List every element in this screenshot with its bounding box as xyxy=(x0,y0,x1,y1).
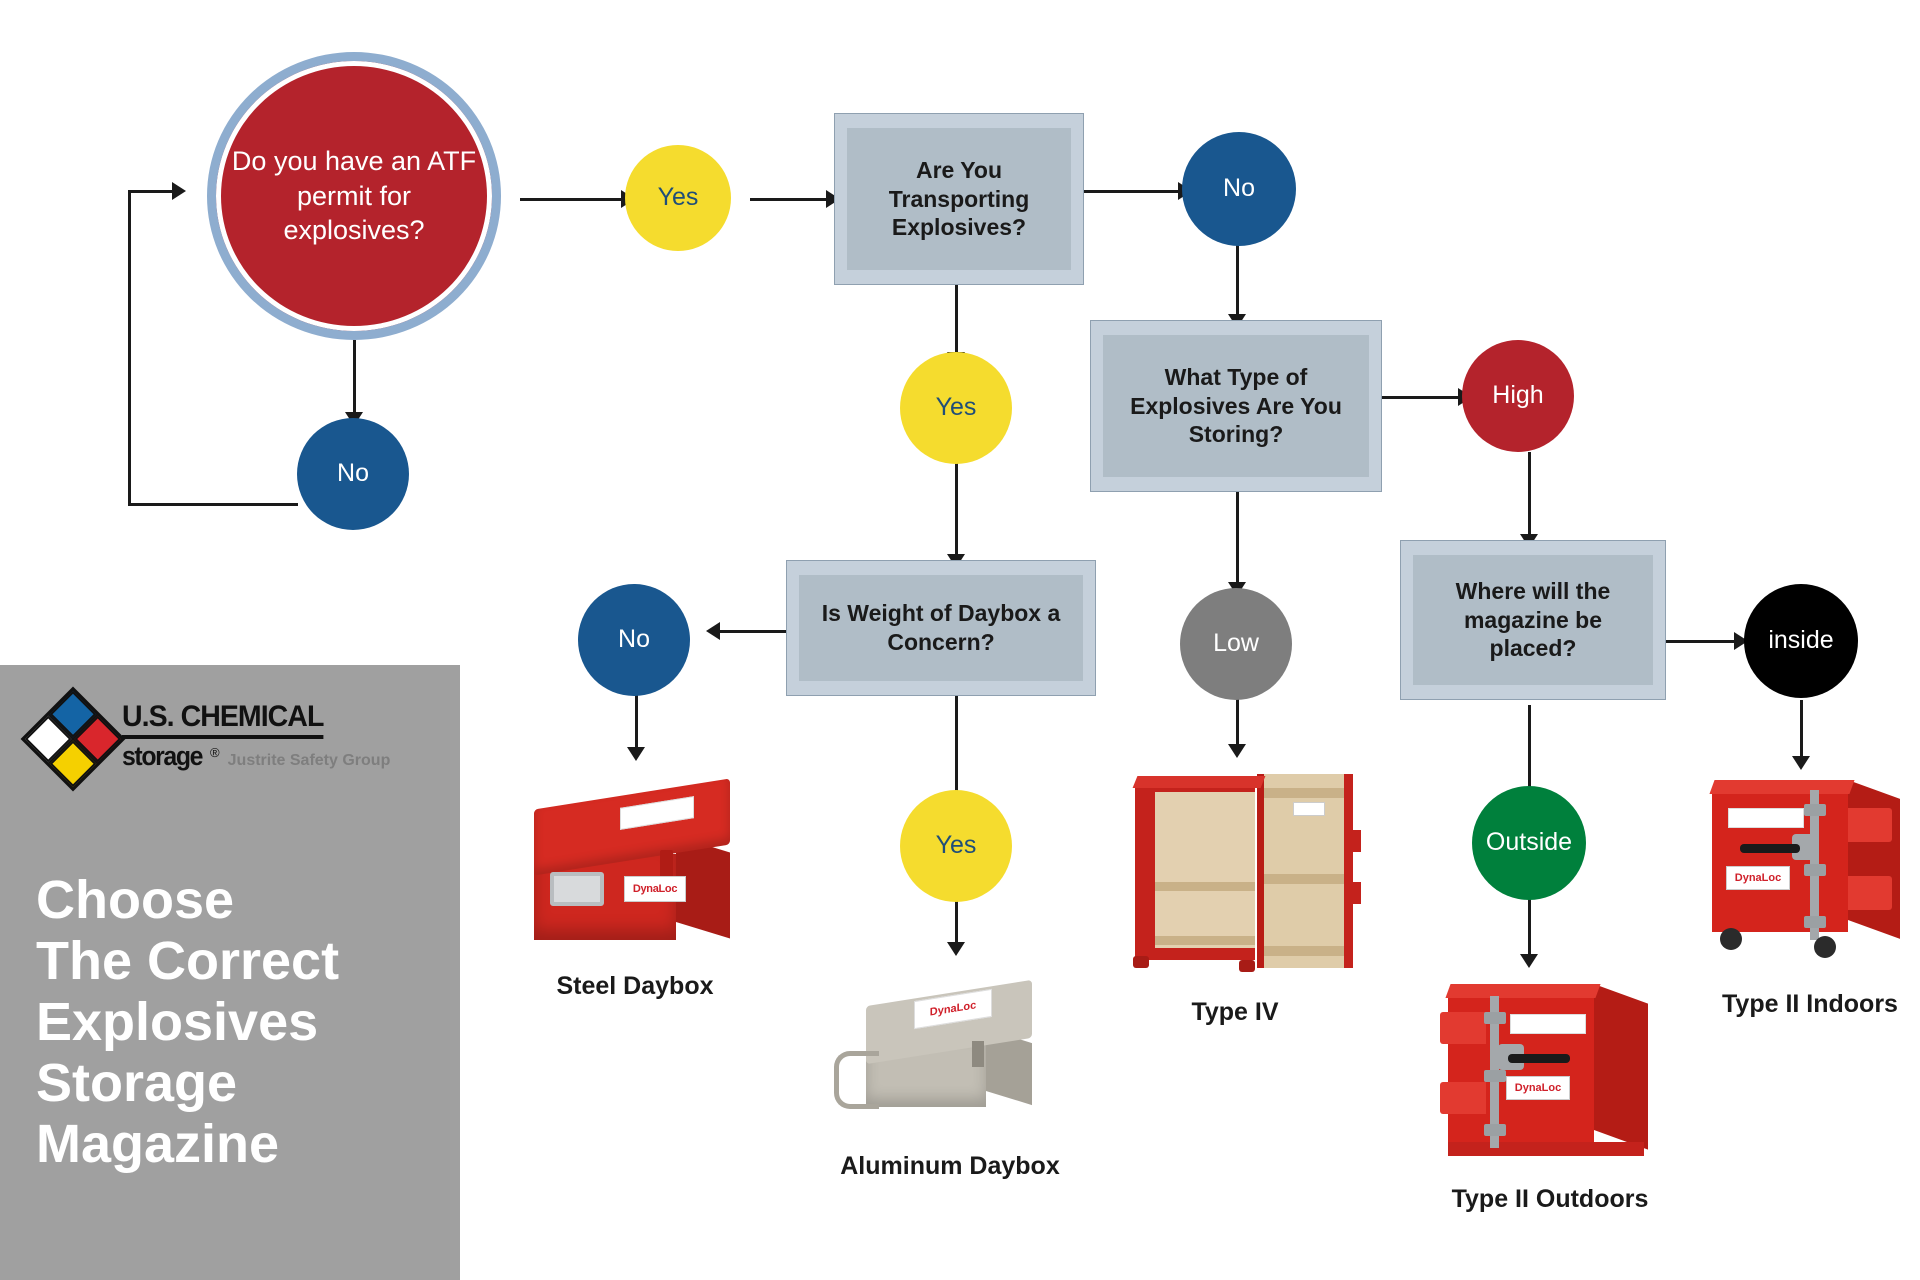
type-ii-indoors-brand-sticker xyxy=(1728,808,1804,828)
connector-type-to-low xyxy=(1236,492,1239,588)
answer-weight-no[interactable]: No xyxy=(578,584,690,696)
decision-are-you-transporting-label: Are You Transporting Explosives? xyxy=(847,128,1071,270)
type-ii-outdoors-clamp-top xyxy=(1484,1012,1506,1024)
arrowhead-inside-to-indoors xyxy=(1792,756,1810,770)
aluminum-daybox-handle xyxy=(834,1051,879,1109)
product-image-aluminum-daybox: DynaLoc xyxy=(840,975,1055,1125)
connector-transporting-to-no xyxy=(1084,190,1182,193)
type-ii-indoors-clamp-mid xyxy=(1804,864,1826,876)
start-node-atf-permit[interactable]: Do you have an ATF permit for explosives… xyxy=(207,52,501,340)
product-image-steel-daybox: DynaLoc xyxy=(528,780,738,950)
type-ii-indoors-clamp-top xyxy=(1804,804,1826,816)
arrowhead-yes-to-aluminum xyxy=(947,942,965,956)
brand-title-line-3: Explosives xyxy=(36,992,456,1053)
decision-daybox-weight[interactable]: Is Weight of Daybox a Concern? xyxy=(786,560,1096,696)
connector-start-to-no xyxy=(353,340,356,418)
brand-logo-text: U.S. CHEMICAL storage ® Justrite Safety … xyxy=(122,702,390,770)
type-iv-door-band-bottom xyxy=(1264,946,1344,956)
product-image-type-ii-outdoors: DynaLoc xyxy=(1432,978,1662,1168)
caption-type-ii-indoors: Type II Indoors xyxy=(1660,990,1920,1019)
brand-logo-registered: ® xyxy=(210,745,220,760)
answer-transporting-yes[interactable]: Yes xyxy=(900,352,1012,464)
steel-daybox-handle xyxy=(550,872,604,906)
type-iv-label-tag xyxy=(1293,802,1325,816)
brand-panel: U.S. CHEMICAL storage ® Justrite Safety … xyxy=(0,665,460,1280)
type-iv-hinge-lower xyxy=(1347,882,1361,904)
type-ii-indoors-caster-right xyxy=(1814,936,1836,958)
type-ii-outdoors-clamp-mid xyxy=(1484,1070,1506,1082)
caption-type-iv: Type IV xyxy=(1110,998,1360,1027)
brand-title-line-5: Magazine xyxy=(36,1114,456,1175)
connector-high-to-placement xyxy=(1528,452,1531,540)
connector-inside-to-indoors xyxy=(1800,700,1803,762)
arrowhead-outside-to-outdoors xyxy=(1520,954,1538,968)
brand-title: Choose The Correct Explosives Storage Ma… xyxy=(36,870,456,1175)
answer-placement-outside[interactable]: Outside xyxy=(1472,786,1586,900)
type-iv-door-band-mid xyxy=(1264,874,1344,884)
answer-placement-inside[interactable]: inside xyxy=(1744,584,1858,698)
type-ii-outdoors-roof xyxy=(1445,984,1600,998)
answer-explosives-low[interactable]: Low xyxy=(1180,588,1292,700)
brand-title-line-4: Storage xyxy=(36,1053,456,1114)
connector-no-to-type xyxy=(1236,242,1239,320)
connector-weight-to-yes xyxy=(955,695,958,797)
caption-steel-daybox: Steel Daybox xyxy=(470,972,800,1001)
caption-aluminum-daybox: Aluminum Daybox xyxy=(780,1152,1120,1181)
connector-weight-to-no xyxy=(710,630,792,633)
arrowhead-low-to-typeiv xyxy=(1228,744,1246,758)
arrowhead-no-to-steel xyxy=(627,747,645,761)
answer-explosives-high[interactable]: High xyxy=(1462,340,1574,452)
connector-type-to-high xyxy=(1382,396,1462,399)
type-ii-outdoors-clamp-bottom xyxy=(1484,1124,1506,1136)
decision-what-type-of-explosives[interactable]: What Type of Explosives Are You Storing? xyxy=(1090,320,1382,492)
type-iv-door-band-top xyxy=(1264,788,1344,798)
type-ii-outdoors-brand-sticker xyxy=(1510,1014,1586,1034)
type-iv-roof xyxy=(1133,776,1266,788)
type-ii-outdoors-base xyxy=(1448,1142,1644,1156)
brand-logo-tagline: Justrite Safety Group xyxy=(228,752,391,770)
brand-logo-line2: storage xyxy=(122,743,202,770)
type-iv-hinge-upper xyxy=(1347,830,1361,852)
decision-daybox-weight-label: Is Weight of Daybox a Concern? xyxy=(799,575,1083,681)
type-iv-floor-band xyxy=(1155,936,1255,945)
answer-transporting-yes-label: Yes xyxy=(936,394,977,422)
connector-no-to-steel xyxy=(635,695,638,753)
connector-yes-to-weight xyxy=(955,450,958,560)
answer-weight-yes-label: Yes xyxy=(936,832,977,860)
connector-outside-to-outdoors xyxy=(1528,898,1531,960)
caption-type-ii-outdoors: Type II Outdoors xyxy=(1390,1185,1710,1214)
type-ii-indoors-clamp-bottom xyxy=(1804,916,1826,928)
answer-explosives-low-label: Low xyxy=(1213,630,1259,658)
connector-placement-to-inside xyxy=(1664,640,1738,643)
answer-permit-no[interactable]: No xyxy=(297,418,409,530)
type-ii-indoors-vent-lower xyxy=(1848,876,1892,910)
brand-title-line-2: The Correct xyxy=(36,931,456,992)
type-ii-indoors-dynaloc-label: DynaLoc xyxy=(1726,866,1790,890)
brand-logo-subrow: storage ® Justrite Safety Group xyxy=(122,743,390,770)
answer-transporting-no[interactable]: No xyxy=(1182,132,1296,246)
answer-transporting-no-label: No xyxy=(1223,175,1255,203)
type-ii-outdoors-side xyxy=(1594,984,1648,1150)
type-iv-foot-right xyxy=(1239,960,1255,972)
type-ii-outdoors-dynaloc-label: DynaLoc xyxy=(1506,1076,1570,1100)
connector-loop-vertical xyxy=(128,190,131,506)
aluminum-daybox-latch xyxy=(972,1041,984,1067)
steel-daybox-dynaloc-label: DynaLoc xyxy=(624,876,686,902)
decision-what-type-of-explosives-label: What Type of Explosives Are You Storing? xyxy=(1103,335,1369,477)
brand-logo: U.S. CHEMICAL storage ® Justrite Safety … xyxy=(36,700,436,780)
arrowhead-weight-to-no xyxy=(706,622,720,640)
connector-transporting-to-yes xyxy=(955,285,958,357)
decision-are-you-transporting[interactable]: Are You Transporting Explosives? xyxy=(834,113,1084,285)
decision-magazine-placement[interactable]: Where will the magazine be placed? xyxy=(1400,540,1666,700)
brand-title-line-1: Choose xyxy=(36,870,456,931)
answer-permit-yes-label: Yes xyxy=(658,184,699,212)
start-node-label: Do you have an ATF permit for explosives… xyxy=(226,144,482,248)
type-ii-indoors-roof xyxy=(1709,780,1854,794)
answer-explosives-high-label: High xyxy=(1492,382,1543,410)
type-ii-outdoors-vent-lower xyxy=(1440,1082,1486,1114)
type-ii-outdoors-vent-upper xyxy=(1440,1012,1486,1044)
type-ii-indoors-vent-upper xyxy=(1848,808,1892,842)
type-ii-indoors-side xyxy=(1848,780,1900,939)
connector-yes-to-transporting xyxy=(750,198,830,201)
type-iv-interior xyxy=(1155,792,1255,948)
answer-permit-no-label: No xyxy=(337,460,369,488)
arrowhead-loop-to-start xyxy=(172,182,186,200)
connector-loop-bottom xyxy=(128,503,298,506)
nfpa-diamond-icon xyxy=(21,687,126,792)
answer-permit-yes[interactable]: Yes xyxy=(625,145,731,251)
infographic-canvas: Do you have an ATF permit for explosives… xyxy=(0,0,1920,1280)
type-ii-indoors-handle xyxy=(1740,844,1800,853)
decision-magazine-placement-label: Where will the magazine be placed? xyxy=(1413,555,1653,685)
answer-weight-yes[interactable]: Yes xyxy=(900,790,1012,902)
answer-weight-no-label: No xyxy=(618,626,650,654)
type-ii-outdoors-handle xyxy=(1508,1054,1570,1063)
type-iv-foot-left xyxy=(1133,956,1149,968)
answer-placement-outside-label: Outside xyxy=(1486,829,1572,857)
type-ii-indoors-caster-left xyxy=(1720,928,1742,950)
product-image-type-ii-indoors: DynaLoc xyxy=(1698,772,1913,972)
type-iv-shelf xyxy=(1155,882,1255,891)
connector-start-to-yes xyxy=(520,198,625,201)
connector-loop-top xyxy=(128,190,176,193)
product-image-type-iv xyxy=(1125,770,1370,975)
brand-logo-line1: U.S. CHEMICAL xyxy=(122,702,323,739)
answer-placement-inside-label: inside xyxy=(1768,627,1833,655)
